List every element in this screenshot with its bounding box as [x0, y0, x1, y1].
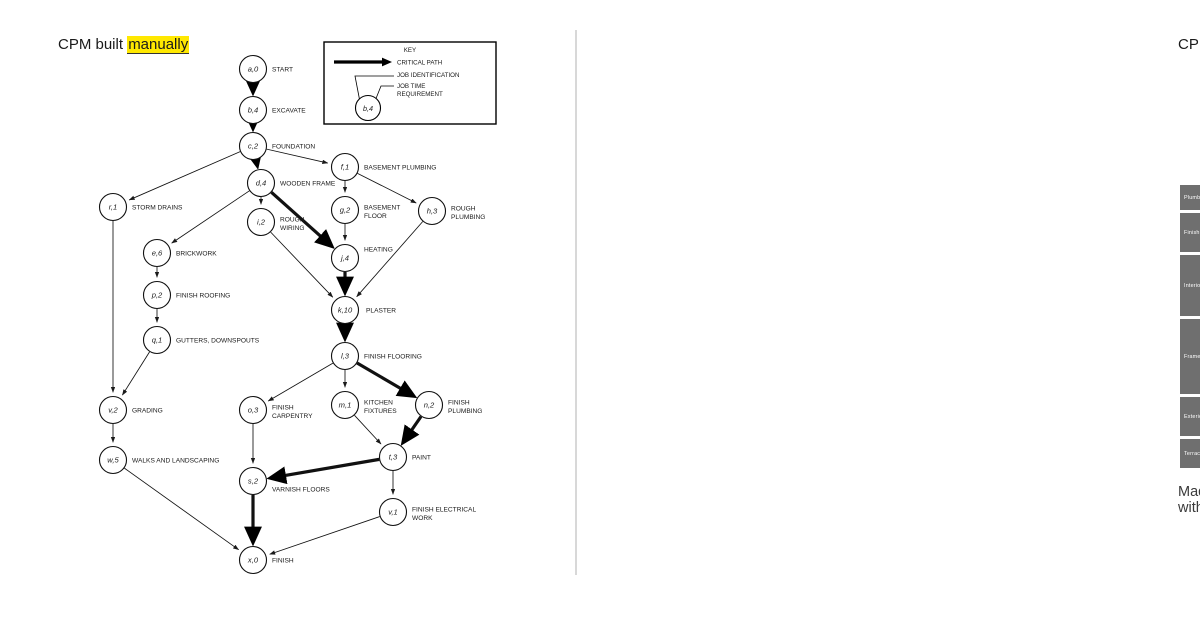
- cpm-node-v[interactable]: v,2GRADING: [100, 397, 163, 424]
- cpm-node-code: h,3: [427, 207, 438, 216]
- cpm-node-code: i,2: [257, 218, 266, 227]
- cpm-node-t[interactable]: t,3PAINT: [380, 444, 431, 471]
- cpm-node-code: v,2: [108, 406, 118, 415]
- cpm-node-r[interactable]: r,1STORM DRAINS: [100, 194, 184, 221]
- cpm-node-code: p,2: [151, 291, 163, 300]
- cpm-node-code: b,4: [248, 106, 259, 115]
- cpm-node-label: PLASTER: [366, 308, 396, 315]
- cpm-node-c[interactable]: c,2FOUNDATION: [240, 133, 316, 160]
- cpm-node-code: s,2: [248, 477, 259, 486]
- cpm-node-h[interactable]: h,3ROUGHPLUMBING: [419, 198, 486, 225]
- gantt-lane-label[interactable]: Finishing: [1180, 213, 1200, 252]
- key-critical-path-label: CRITICAL PATH: [397, 59, 442, 66]
- cpm-node-label: PLUMBING: [451, 214, 485, 221]
- cpm-node-label: FINISH FLOORING: [364, 354, 422, 361]
- cpm-node-label: WORK: [412, 515, 433, 522]
- cpm-node-u[interactable]: v,1FINISH ELECTRICALWORK: [380, 499, 477, 526]
- cpm-node-code: o,3: [248, 406, 259, 415]
- cpm-node-label: WALKS AND LANDSCAPING: [132, 458, 219, 465]
- gantt-lane-plumbing: Plumbing: [1180, 185, 1200, 211]
- cpm-node-label: WOODEN FRAME: [280, 181, 336, 188]
- cpm-node-e[interactable]: e,6BRICKWORK: [144, 240, 218, 267]
- cpm-node-label: PLUMBING: [448, 408, 482, 415]
- gantt-lane-frame: Frame: [1180, 319, 1200, 395]
- cpm-node-code: c,2: [248, 142, 259, 151]
- cpm-edge-u-to-x: [270, 517, 380, 555]
- cpm-node-code: e,6: [152, 249, 163, 258]
- key-job-identification-label: JOB IDENTIFICATION: [397, 72, 459, 79]
- cpm-edges: [113, 83, 423, 554]
- cpm-node-code: l,3: [341, 352, 350, 361]
- cpm-node-label: BRICKWORK: [176, 251, 217, 258]
- cpm-node-label: BASEMENT PLUMBING: [364, 165, 436, 172]
- cpm-edge-d-to-e: [172, 191, 250, 243]
- cpm-node-o[interactable]: o,3FINISHCARPENTRY: [240, 397, 314, 424]
- cpm-edge-i-to-k: [271, 232, 333, 297]
- cpm-node-label: FINISH: [272, 558, 294, 565]
- cpm-node-code: t,3: [389, 453, 398, 462]
- cpm-node-label: PAINT: [412, 455, 431, 462]
- cpm-node-label: FINISH: [448, 400, 470, 407]
- made-with-label: Made with: [1178, 484, 1200, 516]
- right-heading-prefix: CPM created with: [1178, 36, 1200, 53]
- made-with-footer: Made with Office Timeline: [1178, 484, 1200, 516]
- key-job-time-label-line2: REQUIREMENT: [397, 91, 443, 98]
- cpm-node-a[interactable]: a,0START: [240, 56, 294, 83]
- cpm-edge-l-to-n: [357, 363, 413, 396]
- cpm-edge-h-to-k: [357, 222, 423, 297]
- cpm-edge-f-to-h: [357, 173, 416, 203]
- cpm-node-q[interactable]: q,1GUTTERS, DOWNSPOUTS: [144, 327, 260, 354]
- cpm-node-label: KITCHEN: [364, 400, 393, 407]
- key-sample-node-label: b,4: [363, 104, 373, 113]
- cpm-edge-l-to-o: [268, 363, 333, 401]
- key-job-time-label-line1: JOB TIME: [397, 83, 425, 90]
- cpm-node-code: v,1: [388, 508, 398, 517]
- cpm-node-b[interactable]: b,4EXCAVATE: [240, 97, 307, 124]
- cpm-node-code: q,1: [152, 336, 163, 345]
- cpm-node-g[interactable]: g,2BASEMENTFLOOR: [332, 197, 401, 224]
- gantt-lane-label[interactable]: Frame: [1180, 319, 1200, 394]
- cpm-node-code: g,2: [340, 206, 351, 215]
- cpm-edge-m-to-t: [354, 415, 380, 444]
- cpm-edge-t-to-s: [271, 459, 379, 477]
- cpm-node-label: START: [272, 67, 293, 74]
- gantt-chart: Day 147101316192225283134 PlumbingFinish…: [1180, 163, 1200, 463]
- cpm-node-label: BASEMENT: [364, 205, 400, 212]
- cpm-node-f[interactable]: f,1BASEMENT PLUMBING: [332, 154, 437, 181]
- gantt-lane-terrace: Terrace: [1180, 439, 1200, 469]
- cpm-node-label: VARNISH FLOORS: [272, 487, 330, 494]
- panel-divider: [575, 30, 577, 575]
- cpm-node-code: r,1: [109, 203, 117, 212]
- cpm-node-p[interactable]: p,2FINISH ROOFING: [144, 282, 231, 309]
- right-panel-heading: CPM created with software tools: [1178, 36, 1200, 53]
- cpm-manual-panel: CPM built manually a,0STARTb,4EXCAVATEc,…: [0, 0, 575, 630]
- cpm-edge-c-to-r: [129, 152, 240, 200]
- cpm-node-code: k,10: [338, 306, 353, 315]
- cpm-node-j[interactable]: j,4HEATING: [332, 245, 393, 272]
- gantt-bar-label: Basement floor: [1180, 274, 1200, 281]
- cpm-node-code: j,4: [340, 254, 349, 263]
- cpm-node-x[interactable]: x,0FINISH: [240, 547, 294, 574]
- cpm-node-code: m,1: [339, 401, 352, 410]
- gantt-lane-exteriors: Exteriors: [1180, 397, 1200, 437]
- cpm-node-label: GRADING: [132, 408, 163, 415]
- cpm-edge-c-to-f: [267, 149, 328, 163]
- cpm-node-l[interactable]: l,3FINISH FLOORING: [332, 343, 422, 370]
- cpm-node-code: a,0: [248, 65, 259, 74]
- cpm-edge-c-to-d: [256, 160, 257, 165]
- cpm-node-label: FINISH ROOFING: [176, 293, 230, 300]
- cpm-edge-n-to-t: [404, 417, 421, 442]
- cpm-node-code: w,5: [107, 456, 119, 465]
- cpm-edge-q-to-v: [122, 352, 149, 395]
- gantt-lane-finishing: Finishing: [1180, 213, 1200, 253]
- gantt-bar-label: Basement plumbing: [1180, 261, 1200, 268]
- cpm-node-label: FOUNDATION: [272, 144, 315, 151]
- cpm-node-code: x,0: [247, 556, 259, 565]
- key-legend-box: KEY CRITICAL PATH JOB IDENTIFICATION JOB…: [324, 42, 496, 124]
- cpm-node-label: FLOOR: [364, 213, 387, 220]
- cpm-node-label: WIRING: [280, 225, 305, 232]
- cpm-node-code: d,4: [256, 179, 267, 188]
- cpm-node-d[interactable]: d,4WOODEN FRAME: [248, 170, 336, 197]
- cpm-node-label: FINISH: [272, 405, 294, 412]
- cpm-node-label: CARPENTRY: [272, 413, 313, 420]
- cpm-node-code: n,2: [424, 401, 435, 410]
- cpm-node-code: f,1: [341, 163, 349, 172]
- cpm-node-m[interactable]: m,1KITCHENFIXTURES: [332, 392, 398, 419]
- cpm-node-label: STORM DRAINS: [132, 205, 183, 212]
- cpm-edge-w-to-x: [124, 468, 238, 550]
- cpm-node-label: ROUGH: [451, 206, 476, 213]
- cpm-node-label: GUTTERS, DOWNSPOUTS: [176, 338, 260, 345]
- cpm-node-label: ROUGH: [280, 217, 305, 224]
- key-title: KEY: [404, 47, 416, 54]
- cpm-software-panel: CPM created with software tools Day 1471…: [578, 0, 1200, 630]
- gantt-lane-label[interactable]: Terrace: [1180, 439, 1200, 468]
- gantt-lane-label[interactable]: Exteriors: [1180, 397, 1200, 436]
- cpm-node-k[interactable]: k,10PLASTER: [332, 297, 397, 324]
- cpm-network-diagram: a,0STARTb,4EXCAVATEc,2FOUNDATIONd,4WOODE…: [0, 0, 575, 630]
- cpm-node-n[interactable]: n,2FINISHPLUMBING: [416, 392, 483, 419]
- cpm-node-w[interactable]: w,5WALKS AND LANDSCAPING: [100, 447, 220, 474]
- gantt-lane-label[interactable]: Plumbing: [1180, 185, 1200, 210]
- cpm-node-label: HEATING: [364, 247, 393, 254]
- cpm-node-label: FINISH ELECTRICAL: [412, 507, 476, 514]
- cpm-node-label: FIXTURES: [364, 408, 397, 415]
- cpm-node-label: EXCAVATE: [272, 108, 306, 115]
